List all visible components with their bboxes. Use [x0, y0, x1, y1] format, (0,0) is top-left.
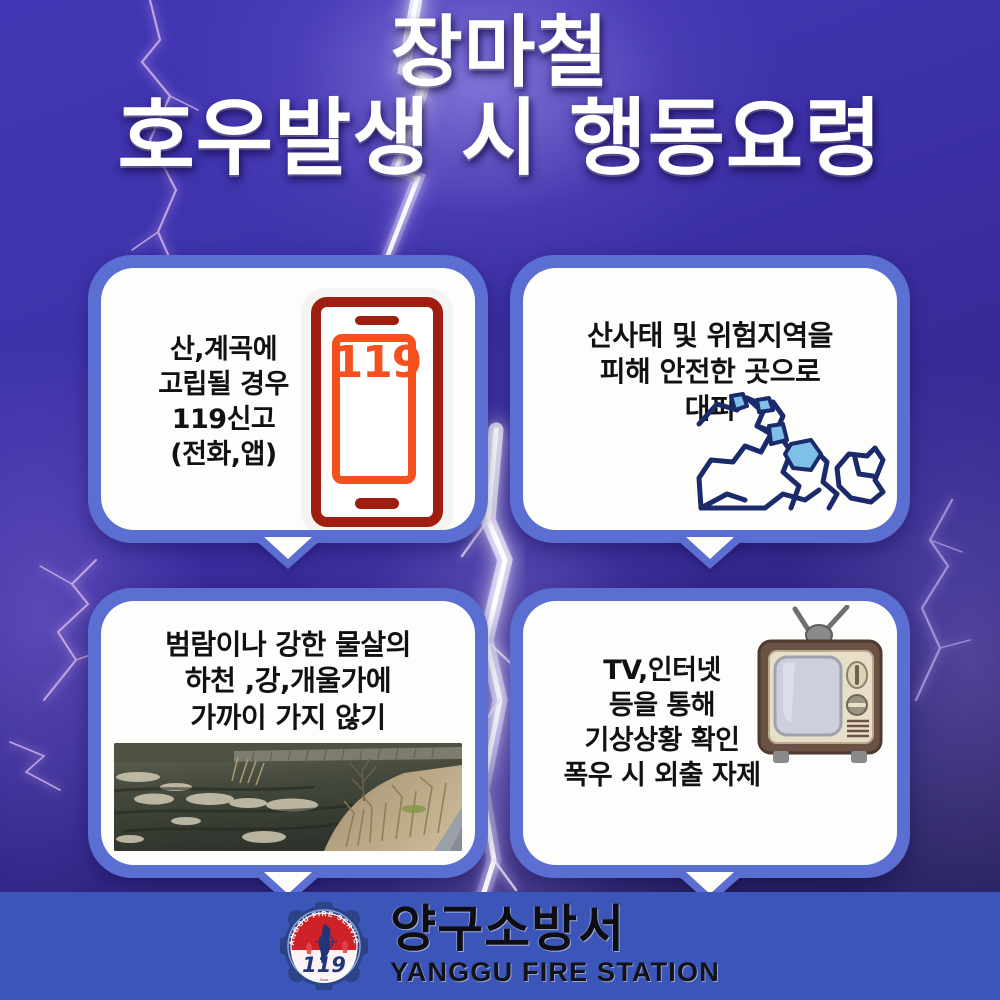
card-inner: 산,계곡에 고립될 경우 119신고 (전화,앱) 119: [101, 268, 475, 530]
smartphone-119-icon: 119: [301, 288, 453, 530]
footer-bar: YANGGU FIRE SERVICE 119 Since: [0, 892, 1000, 1000]
yanggu-fire-emblem: YANGGU FIRE SERVICE 119 Since: [280, 902, 368, 990]
phone-number-label: 119: [321, 337, 433, 388]
footer-org-ko: 양구소방서: [390, 904, 625, 954]
river-photo: [114, 743, 462, 851]
card-inner: 산사태 및 위험지역을 피해 안전한 곳으로 대피: [523, 268, 897, 530]
card-landslide-evacuate[interactable]: 산사태 및 위험지역을 피해 안전한 곳으로 대피: [510, 255, 910, 543]
retro-tv-icon: [751, 605, 891, 773]
footer-org: 양구소방서 YANGGU FIRE STATION: [390, 904, 720, 988]
emblem-119-text: 119: [302, 953, 346, 977]
card-text: 산,계곡에 고립될 경우 119신고 (전화,앱): [121, 332, 326, 472]
card-inner: 범람이나 강한 물살의 하천 ,강,개울가에 가까이 가지 않기: [101, 601, 475, 865]
phone-home-button: [355, 498, 399, 509]
card-isolated-mountain-valley[interactable]: 산,계곡에 고립될 경우 119신고 (전화,앱) 119: [88, 255, 488, 543]
poster-title: 장마철 호우발생 시 행동요령: [0, 14, 1000, 181]
card-inner: TV,인터넷 등을 통해 기상상황 확인 폭우 시 외출 자제: [523, 601, 897, 865]
cards-grid: 산,계곡에 고립될 경우 119신고 (전화,앱) 119 산사태 및 위험지역…: [0, 252, 1000, 898]
card-avoid-rivers[interactable]: 범람이나 강한 물살의 하천 ,강,개울가에 가까이 가지 않기: [88, 588, 488, 878]
poster-root: 장마철 호우발생 시 행동요령 산,계곡에 고립될 경우 119신고 (전화,앱…: [0, 0, 1000, 1000]
card-text: TV,인터넷 등을 통해 기상상황 확인 폭우 시 외출 자제: [537, 653, 787, 793]
card-text: 범람이나 강한 물살의 하천 ,강,개울가에 가까이 가지 않기: [111, 627, 465, 736]
bubble-tail: [676, 539, 744, 569]
cards-row-2: 범람이나 강한 물살의 하천 ,강,개울가에 가까이 가지 않기: [0, 586, 1000, 898]
phone-speaker: [355, 316, 399, 325]
emblem-since-text: Since: [320, 978, 329, 982]
phone-body: 119: [311, 297, 443, 527]
card-check-weather-tv[interactable]: TV,인터넷 등을 통해 기상상황 확인 폭우 시 외출 자제: [510, 588, 910, 878]
title-line-1: 장마철: [0, 14, 1000, 94]
footer-org-en: YANGGU FIRE STATION: [390, 957, 720, 988]
landslide-icon: [687, 382, 887, 522]
cards-row-1: 산,계곡에 고립될 경우 119신고 (전화,앱) 119 산사태 및 위험지역…: [0, 252, 1000, 564]
bubble-tail: [254, 539, 322, 569]
title-line-2: 호우발생 시 행동요령: [0, 96, 1000, 182]
